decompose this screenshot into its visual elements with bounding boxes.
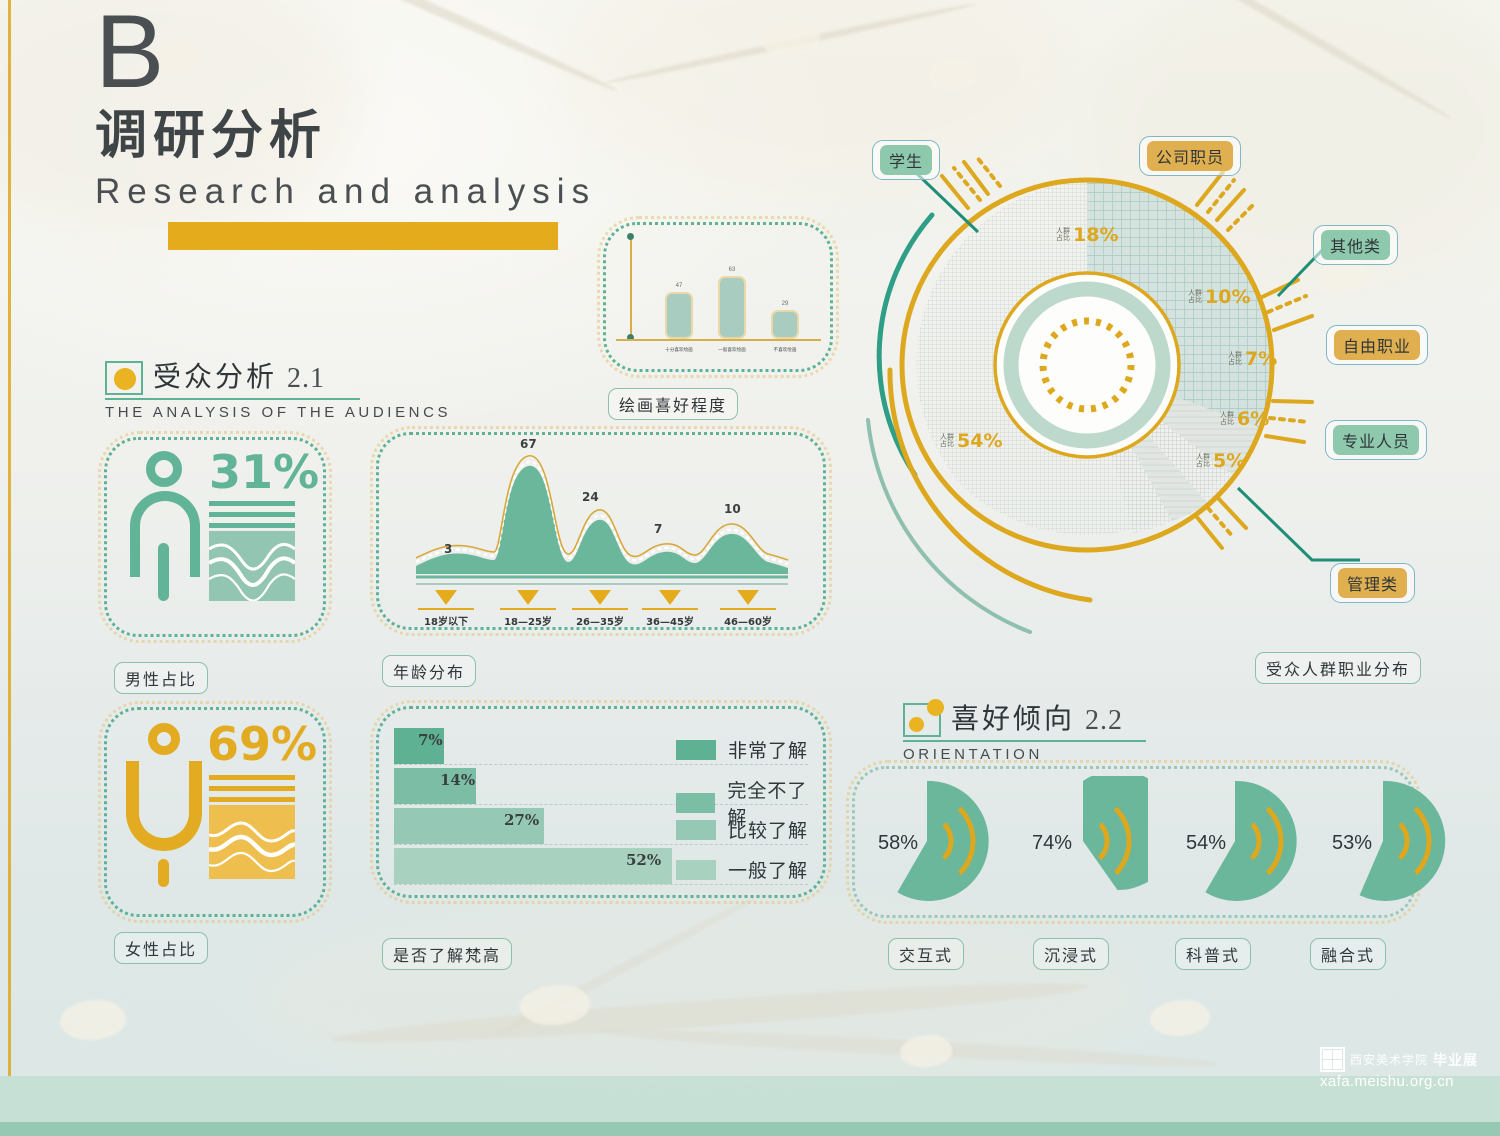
caption-male-ratio: 男性占比 — [114, 662, 208, 694]
age-area-fill — [416, 466, 788, 574]
age-marker-2: 26—35岁 — [572, 590, 628, 630]
tag-freelance[interactable]: 自由职业 — [1326, 325, 1428, 365]
caption-fusion: 融合式 — [1310, 938, 1386, 970]
mini-bar-0 — [665, 292, 693, 339]
occupation-unit-label: 人群占比 — [1228, 352, 1242, 366]
age-value-1: 67 — [520, 437, 537, 451]
male-leg-icon — [158, 543, 169, 601]
caption-female-ratio: 女性占比 — [114, 932, 208, 964]
tag-label-management: 管理类 — [1338, 568, 1407, 598]
female-head-icon — [148, 723, 180, 755]
section-number: 2.1 — [287, 363, 325, 395]
awareness-value-3: 52% — [626, 851, 661, 869]
mini-chart-y-axis — [630, 236, 632, 340]
school-logo-icon — [1320, 1047, 1345, 1072]
tag-other[interactable]: 其他类 — [1313, 225, 1398, 265]
female-body-icon — [126, 761, 202, 851]
tag-label-freelance: 自由职业 — [1334, 330, 1420, 360]
section-letter: B — [95, 8, 596, 97]
male-wave-panel — [209, 531, 295, 601]
age-marker-4: 46—60岁 — [720, 590, 776, 630]
female-leg-icon — [158, 859, 169, 887]
footer-band-light — [0, 1076, 1500, 1122]
title-underline-bar — [168, 222, 558, 250]
mini-chart-x-axis — [616, 339, 821, 341]
occupation-percent-company: 18% — [1073, 224, 1118, 246]
legend-swatch-3 — [676, 860, 716, 880]
age-label-3: 36—45岁 — [646, 617, 694, 628]
tag-professional[interactable]: 专业人员 — [1325, 420, 1427, 460]
footer-exhibition-text: 毕业展 — [1433, 1052, 1478, 1068]
legend-swatch-2 — [676, 820, 716, 840]
pie-fusion: 53% — [1318, 776, 1448, 906]
triangle-marker-icon — [435, 590, 457, 605]
age-value-3: 7 — [654, 522, 662, 536]
tag-label-other: 其他类 — [1321, 230, 1390, 260]
caption-immersive: 沉浸式 — [1033, 938, 1109, 970]
section-title-en: THE ANALYSIS OF THE AUDIENCS — [105, 404, 451, 421]
section-head-orientation: 喜好倾向 2.2 ORIENTATION — [903, 697, 1146, 763]
male-head-icon — [146, 451, 182, 487]
mini-bar-2 — [771, 310, 799, 339]
triangle-marker-icon — [737, 590, 759, 605]
page-title: 调研分析 — [95, 93, 596, 168]
tag-management[interactable]: 管理类 — [1330, 563, 1415, 603]
occupation-percent-freelance: 7% — [1245, 348, 1277, 370]
mini-bar-value-1: 63 — [712, 267, 752, 273]
male-percent-value: 31% — [209, 445, 319, 499]
age-label-4: 46—60岁 — [724, 617, 772, 628]
awareness-legend-0: 非常了解 — [676, 736, 808, 763]
tag-label-company: 公司职员 — [1147, 141, 1233, 171]
section-head-audience: 受众分析 2.1 THE ANALYSIS OF THE AUDIENCS — [105, 355, 451, 421]
section-underline-2 — [903, 740, 1146, 742]
section-marker-dot-3 — [927, 699, 944, 716]
chart-age-distribution: 3 67 24 7 10 18岁以下 18—25岁 26—35岁 36—45岁 … — [376, 432, 826, 630]
caption-interactive: 交互式 — [888, 938, 964, 970]
age-label-1: 18—25岁 — [504, 617, 552, 628]
occupation-value-company: 人群占比 18% — [1056, 224, 1118, 246]
mini-bar-1 — [718, 276, 746, 339]
page-header: B 调研分析 Research and analysis — [95, 8, 596, 212]
section-marker-dot-2 — [909, 717, 924, 732]
female-wave-lines — [209, 805, 295, 879]
legend-swatch-0 — [676, 740, 716, 760]
age-value-4: 10 — [724, 502, 741, 516]
occupation-percent-professional: 6% — [1237, 408, 1269, 430]
mini-bar-label-2: 不喜欢绘画 — [767, 346, 804, 352]
caption-age-distribution: 年龄分布 — [382, 655, 476, 687]
awareness-value-2: 27% — [504, 811, 539, 829]
female-percent-value: 69% — [207, 717, 317, 771]
footer-logo: 西安美术学院 毕业展 xafa.meishu.org.cn — [1320, 1047, 1478, 1090]
age-value-2: 24 — [582, 490, 599, 504]
occupation-unit-label: 人群占比 — [940, 434, 954, 448]
footer-logo-row: 西安美术学院 毕业展 — [1320, 1047, 1478, 1072]
awareness-legend-2: 比较了解 — [676, 816, 808, 843]
occupation-percent-management: 5% — [1213, 450, 1245, 472]
legend-label-0: 非常了解 — [728, 736, 808, 763]
age-value-0: 3 — [444, 542, 452, 556]
section-marker-dot — [114, 368, 136, 390]
age-marker-3: 36—45岁 — [642, 590, 698, 630]
awareness-value-1: 14% — [440, 771, 475, 789]
legend-label-2: 比较了解 — [728, 816, 808, 843]
occupation-value-management: 人群占比 5% — [1196, 450, 1245, 472]
mini-bar-label-1: 一般喜欢绘画 — [714, 346, 751, 352]
section-title-cn: 受众分析 — [153, 355, 277, 395]
mini-bar-value-2: 29 — [765, 301, 805, 307]
occupation-unit-label: 人群占比 — [1056, 228, 1070, 242]
section-marker-box — [105, 361, 143, 395]
age-marker-1: 18—25岁 — [500, 590, 556, 630]
pie-science: 54% — [1170, 776, 1300, 906]
chart-orientation: 58% 74% 54% 53% — [852, 766, 1416, 918]
age-label-0: 18岁以下 — [424, 617, 468, 628]
tag-label-professional: 专业人员 — [1333, 425, 1419, 455]
mini-chart-y-cap — [627, 233, 634, 240]
chart-awareness: 7% 14% 27% 52% 非常了解 完全不了解 比较了解 一般了解 — [376, 706, 826, 898]
male-stripe-group — [209, 501, 295, 534]
awareness-value-0: 7% — [418, 731, 443, 749]
pie-immersive: 74% — [1018, 776, 1148, 906]
mini-bar-label-0: 十分喜欢绘画 — [661, 346, 698, 352]
section-underline — [105, 398, 360, 400]
tag-student[interactable]: 学生 — [872, 140, 940, 180]
occupation-value-freelance: 人群占比 7% — [1228, 348, 1277, 370]
occupation-unit-label: 人群占比 — [1220, 412, 1234, 426]
occupation-unit-label: 人群占比 — [1196, 454, 1210, 468]
section-number-2: 2.2 — [1085, 705, 1123, 737]
occupation-percent-student: 54% — [957, 430, 1002, 452]
caption-awareness: 是否了解梵高 — [382, 938, 512, 970]
occupation-percent-other: 10% — [1205, 286, 1250, 308]
triangle-marker-icon — [517, 590, 539, 605]
triangle-marker-icon — [659, 590, 681, 605]
caption-science: 科普式 — [1175, 938, 1251, 970]
section-title-cn-2: 喜好倾向 — [951, 697, 1075, 737]
female-stripe-group — [209, 775, 295, 808]
triangle-marker-icon — [589, 590, 611, 605]
pie-value-fusion: 53% — [1332, 832, 1372, 855]
caption-occupation: 受众人群职业分布 — [1255, 652, 1421, 684]
caption-painting-preference: 绘画喜好程度 — [608, 388, 738, 420]
footer-band-dark — [0, 1122, 1500, 1136]
legend-label-3: 一般了解 — [728, 856, 808, 883]
footer-exhibition-name: 毕业展 — [1433, 1050, 1478, 1070]
figure-female: 69% — [104, 707, 326, 917]
age-marker-0: 18岁以下 — [418, 590, 474, 630]
age-label-2: 26—35岁 — [576, 617, 624, 628]
occupation-value-professional: 人群占比 6% — [1220, 408, 1269, 430]
awareness-grid-3 — [394, 884, 808, 885]
awareness-grid-0 — [394, 764, 808, 765]
male-wave-lines — [209, 531, 295, 601]
tag-label-student: 学生 — [880, 145, 932, 175]
occupation-value-student: 人群占比 54% — [940, 430, 1002, 452]
awareness-legend-3: 一般了解 — [676, 856, 808, 883]
pie-interactive: 58% — [862, 776, 992, 906]
footer-school-name: 西安美术学院 — [1350, 1051, 1428, 1068]
mini-bar-value-0: 47 — [659, 283, 699, 289]
tag-company[interactable]: 公司职员 — [1139, 136, 1241, 176]
chart-painting-preference: 47 63 29 十分喜欢绘画 一般喜欢绘画 不喜欢绘画 — [603, 222, 833, 372]
pie-value-interactive: 58% — [878, 832, 918, 855]
footer-url[interactable]: xafa.meishu.org.cn — [1320, 1073, 1478, 1090]
section-marker-box-2 — [903, 703, 941, 737]
occupation-value-other: 人群占比 10% — [1188, 286, 1250, 308]
awareness-grid-2 — [394, 844, 808, 845]
pie-value-science: 54% — [1186, 832, 1226, 855]
footer-band — [0, 1076, 1500, 1136]
page-title-en: Research and analysis — [95, 172, 596, 212]
left-edge-rule — [8, 0, 11, 1076]
section-title-en-2: ORIENTATION — [903, 746, 1146, 763]
figure-male: 31% — [104, 437, 326, 637]
occupation-unit-label: 人群占比 — [1188, 290, 1202, 304]
female-wave-panel — [209, 805, 295, 879]
pie-value-immersive: 74% — [1032, 832, 1072, 855]
legend-swatch-1 — [676, 793, 715, 813]
